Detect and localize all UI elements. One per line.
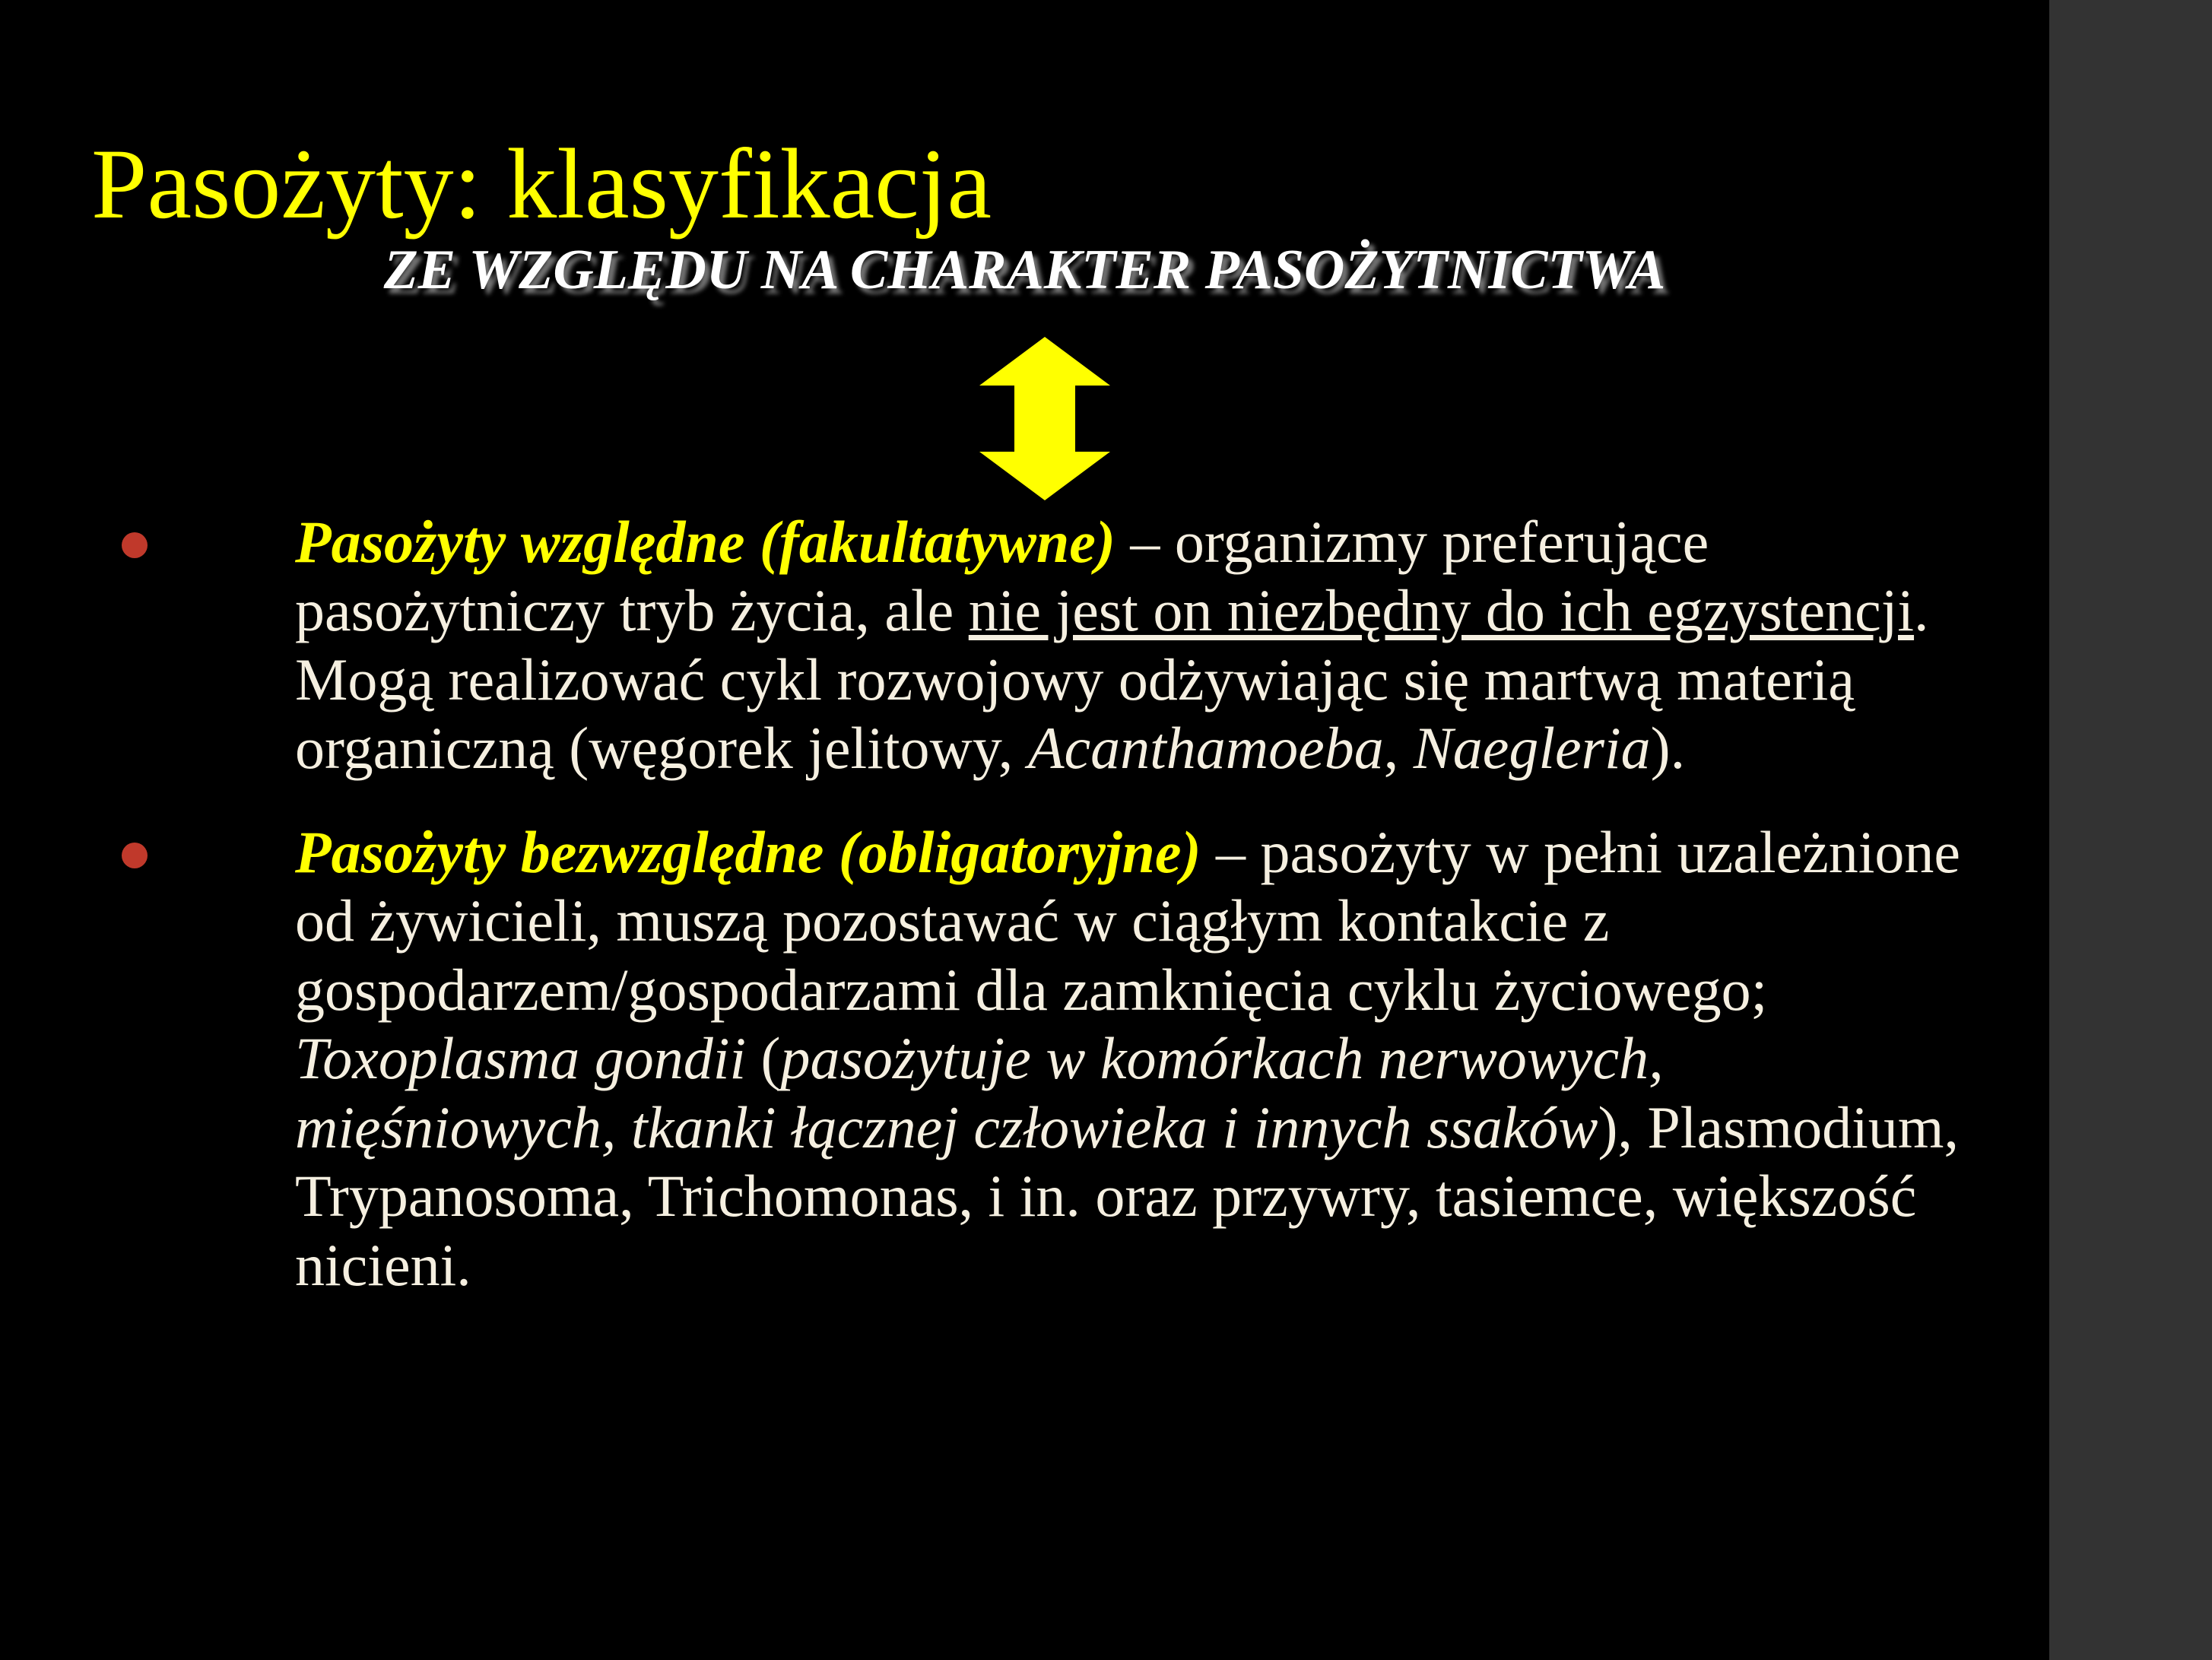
bullet-1-underlined: nie jest on niezbędny do ich egzystencji — [969, 577, 1914, 643]
double-arrow-up-down-icon — [979, 337, 1110, 500]
bullet-2-body-2: ( — [746, 1025, 780, 1091]
bullet-2-dash: – — [1201, 819, 1261, 885]
bullet-1-italic-1: Acanthamoeba — [1028, 715, 1384, 781]
list-item-text: Pasożyty bezwzględne (obligatoryjne) – p… — [295, 818, 1992, 1300]
bullet-2-italic-1: Toxoplasma gondii — [295, 1025, 746, 1091]
bullet-1-italic-2: Naegleria — [1414, 715, 1651, 781]
bullet-1-lead: Pasożyty względne (fakultatywne) — [295, 509, 1116, 575]
list-item: Pasożyty względne (fakultatywne) – organ… — [122, 508, 1992, 783]
bullet-1-dash: – — [1116, 509, 1175, 575]
slide-subtitle: ZE WZGLĘDU NA CHARAKTER PASOŻYTNICTWA — [0, 242, 2049, 298]
bullet-1-body-4: ). — [1651, 715, 1685, 781]
bullet-1-body-3: , — [1384, 715, 1414, 781]
bullet-list: Pasożyty względne (fakultatywne) – organ… — [122, 508, 1992, 1335]
list-item-text: Pasożyty względne (fakultatywne) – organ… — [295, 508, 1992, 783]
bullet-2-lead: Pasożyty bezwzględne (obligatoryjne) — [295, 819, 1201, 885]
bullet-dot-icon — [122, 843, 148, 868]
bullet-dot-icon — [122, 532, 148, 558]
presentation-canvas: Pasożyty: klasyfikacja ZE WZGLĘDU NA CHA… — [0, 0, 2212, 1660]
slide-surface: Pasożyty: klasyfikacja ZE WZGLĘDU NA CHA… — [0, 0, 2049, 1660]
list-item: Pasożyty bezwzględne (obligatoryjne) – p… — [122, 818, 1992, 1300]
page-title: Pasożyty: klasyfikacja — [91, 134, 992, 234]
